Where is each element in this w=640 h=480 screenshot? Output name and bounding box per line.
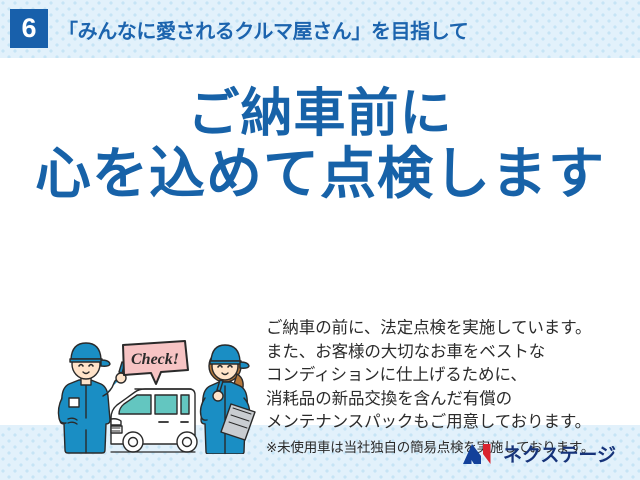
nextage-logo: ネクステージ — [462, 440, 616, 467]
header-title: 「みんなに愛されるクルマ屋さん」を目指して — [58, 15, 468, 44]
check-bubble-label: Check! — [131, 351, 179, 368]
headline-line-2: 心を込めて点検します — [0, 145, 640, 202]
header: 6 「みんなに愛されるクルマ屋さん」を目指して — [0, 0, 640, 58]
nextage-n-mark — [462, 443, 496, 465]
body-line-3: コンディションに仕上げるために、 — [266, 364, 626, 388]
body-line-2: また、お客様の大切なお車をベストな — [266, 341, 626, 365]
promo-banner: 6 「みんなに愛されるクルマ屋さん」を目指して ご納車前に 心を込めて点検します… — [0, 0, 640, 480]
footer: ネクステージ — [0, 425, 640, 480]
body-line-1: ご納車の前に、法定点検を実施しています。 — [266, 317, 626, 341]
content-card: ご納車前に 心を込めて点検します ご納車の前に、法定点検を実施しています。 また… — [0, 58, 640, 425]
body-line-4: 消耗品の新品交換を含んだ有償の — [266, 388, 626, 412]
headline-line-1: ご納車前に — [0, 88, 640, 141]
headline: ご納車前に 心を込めて点検します — [0, 88, 640, 202]
section-number-badge: 6 — [10, 9, 48, 48]
nextage-logo-text: ネクステージ — [503, 440, 616, 467]
